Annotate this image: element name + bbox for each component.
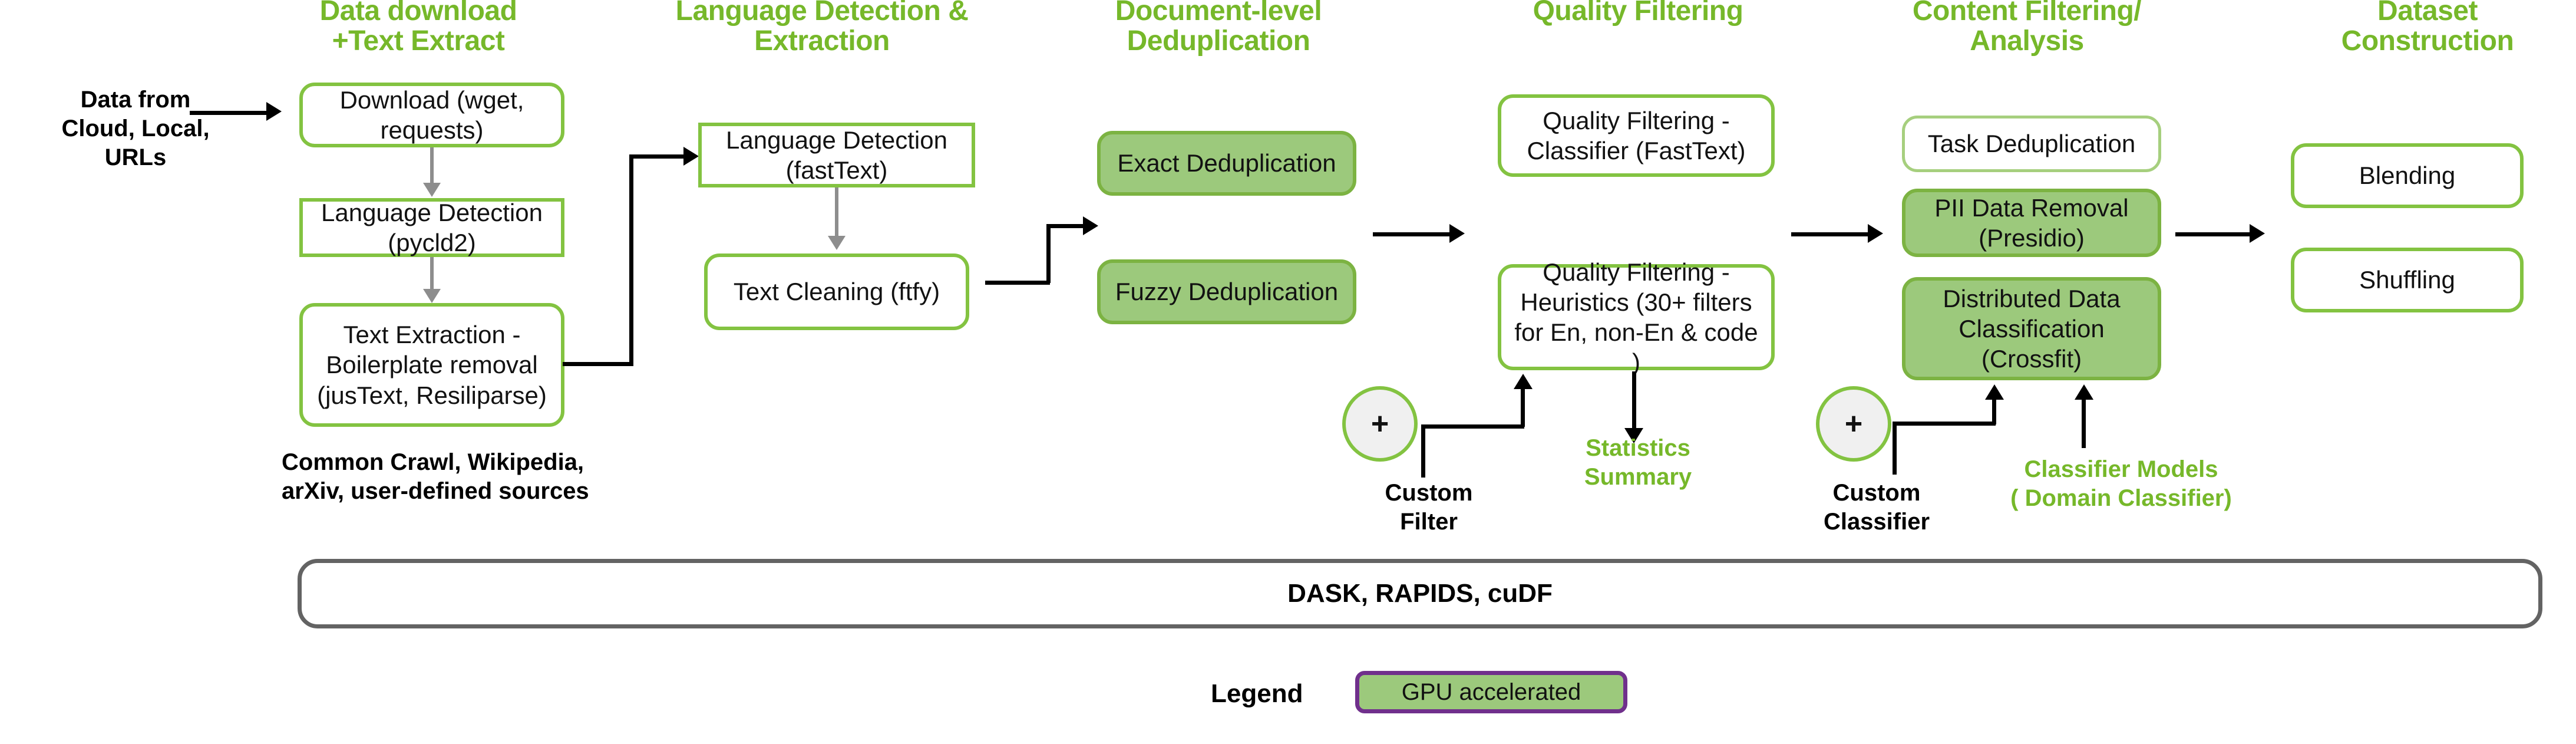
connector-langdetect-to-extraction xyxy=(430,257,434,294)
annotation-custom-filter: Custom Filter xyxy=(1355,479,1502,536)
custom-filter-elbow-riser xyxy=(1421,424,1425,478)
custom-filter-elbow-head xyxy=(1514,374,1533,389)
connector-download-to-langdetect xyxy=(430,147,434,187)
arrow-content-to-dataset-head xyxy=(2250,224,2265,243)
column-header-language-detection: Language Detection & Extraction xyxy=(669,0,975,57)
arrow-content-to-dataset-line xyxy=(2175,232,2252,236)
elbow-extraction-to-fasttext-head xyxy=(683,147,699,166)
arrow-input-to-download-head xyxy=(266,102,282,121)
elbow-cleaning-riser xyxy=(1046,224,1051,283)
node-language-detection-pycld2[interactable]: Language Detection (pycld2) xyxy=(299,198,564,257)
custom-classifier-elbow-up xyxy=(1992,400,1996,424)
node-text-cleaning[interactable]: Text Cleaning (ftfy) xyxy=(704,254,969,330)
custom-classifier-elbow-riser xyxy=(1893,422,1897,475)
node-exact-deduplication[interactable]: Exact Deduplication xyxy=(1097,131,1356,196)
node-blending[interactable]: Blending xyxy=(2291,143,2524,208)
node-quality-filtering-classifier[interactable]: Quality Filtering - Classifier (FastText… xyxy=(1498,94,1775,177)
connector-langdetect-to-extraction-head xyxy=(423,289,441,303)
node-distributed-data-classification[interactable]: Distributed Data Classification (Crossfi… xyxy=(1902,277,2161,380)
elbow-cleaning-to-dedup xyxy=(1046,224,1088,228)
column-header-dataset-construction: Dataset Construction xyxy=(2310,0,2545,57)
legend-label: Legend xyxy=(1211,679,1303,709)
custom-filter-elbow-horizontal xyxy=(1421,424,1524,429)
node-pii-data-removal[interactable]: PII Data Removal (Presidio) xyxy=(1902,189,2161,257)
pipeline-diagram: Data download +Text Extract Language Det… xyxy=(0,0,2576,744)
column-header-quality-filtering: Quality Filtering xyxy=(1485,0,1791,27)
custom-classifier-elbow-head xyxy=(1985,384,2004,400)
arrow-dedup-to-quality-line xyxy=(1373,232,1452,236)
arrow-dedup-to-quality-head xyxy=(1449,224,1465,243)
legend-gpu-accelerated-chip: GPU accelerated xyxy=(1355,671,1627,713)
arrow-quality-to-content-head xyxy=(1868,224,1883,243)
node-quality-filtering-heuristics[interactable]: Quality Filtering - Heuristics (30+ filt… xyxy=(1498,264,1775,370)
annotation-statistics-summary: Statistics Summary xyxy=(1550,434,1726,492)
framework-bar: DASK, RAPIDS, cuDF xyxy=(298,559,2542,628)
classifier-models-arrow-head xyxy=(2075,384,2093,400)
sources-note: Common Crawl, Wikipedia, arXiv, user-def… xyxy=(282,448,647,506)
column-header-content-filtering: Content Filtering/ Analysis xyxy=(1874,0,2180,57)
custom-filter-elbow-up-to-heuristics xyxy=(1521,389,1525,427)
column-header-document-dedup: Document-level Deduplication xyxy=(1083,0,1354,57)
node-task-deduplication[interactable]: Task Deduplication xyxy=(1902,116,2161,172)
custom-filter-plus-icon[interactable]: + xyxy=(1342,386,1418,462)
elbow-extraction-riser xyxy=(629,154,633,366)
classifier-models-arrow-line xyxy=(2082,400,2086,448)
connector-fasttext-to-cleaning xyxy=(835,187,838,241)
arrow-input-to-download-line xyxy=(190,111,269,115)
annotation-custom-classifier: Custom Classifier xyxy=(1791,479,1962,536)
connector-download-to-langdetect-head xyxy=(423,183,441,197)
elbow-cleaning-right-stub xyxy=(985,281,1050,285)
custom-classifier-plus-icon[interactable]: + xyxy=(1816,386,1891,462)
elbow-extraction-right-stub xyxy=(563,362,633,366)
node-fuzzy-deduplication[interactable]: Fuzzy Deduplication xyxy=(1097,259,1356,324)
connector-heuristics-to-statistics xyxy=(1632,371,1636,433)
node-text-extraction[interactable]: Text Extraction - Boilerplate removal (j… xyxy=(299,303,564,427)
elbow-cleaning-to-dedup-head xyxy=(1083,216,1098,235)
arrow-quality-to-content-line xyxy=(1791,232,1871,236)
node-download[interactable]: Download (wget, requests) xyxy=(299,83,564,147)
column-header-data-download: Data download +Text Extract xyxy=(295,0,542,57)
node-language-detection-fasttext[interactable]: Language Detection (fastText) xyxy=(698,123,975,187)
connector-fasttext-to-cleaning-head xyxy=(828,236,846,250)
elbow-extraction-to-fasttext xyxy=(629,154,688,159)
custom-classifier-elbow-horizontal xyxy=(1893,422,1996,426)
input-source-label: Data from Cloud, Local, URLs xyxy=(12,85,259,172)
node-shuffling[interactable]: Shuffling xyxy=(2291,248,2524,312)
annotation-classifier-models: Classifier Models ( Domain Classifier) xyxy=(1962,455,2280,513)
